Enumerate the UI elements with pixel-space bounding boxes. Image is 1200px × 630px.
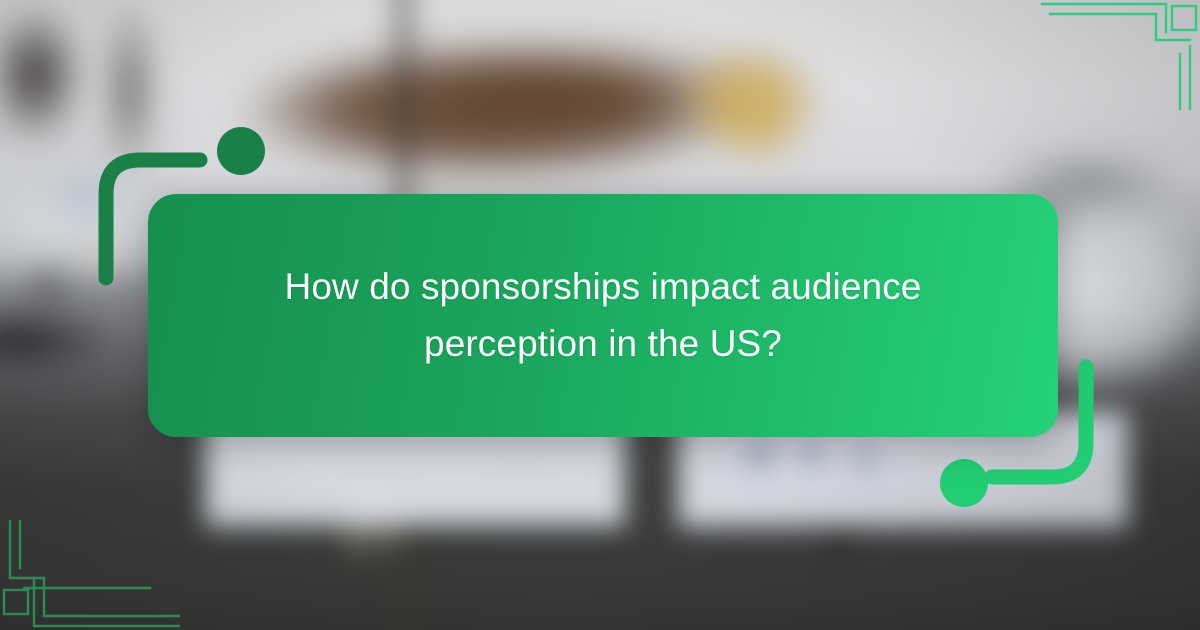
question-card-graphic: How do sponsorships impact audience perc… bbox=[0, 0, 1200, 630]
question-text: How do sponsorships impact audience perc… bbox=[218, 259, 988, 371]
question-card: How do sponsorships impact audience perc… bbox=[148, 194, 1058, 437]
